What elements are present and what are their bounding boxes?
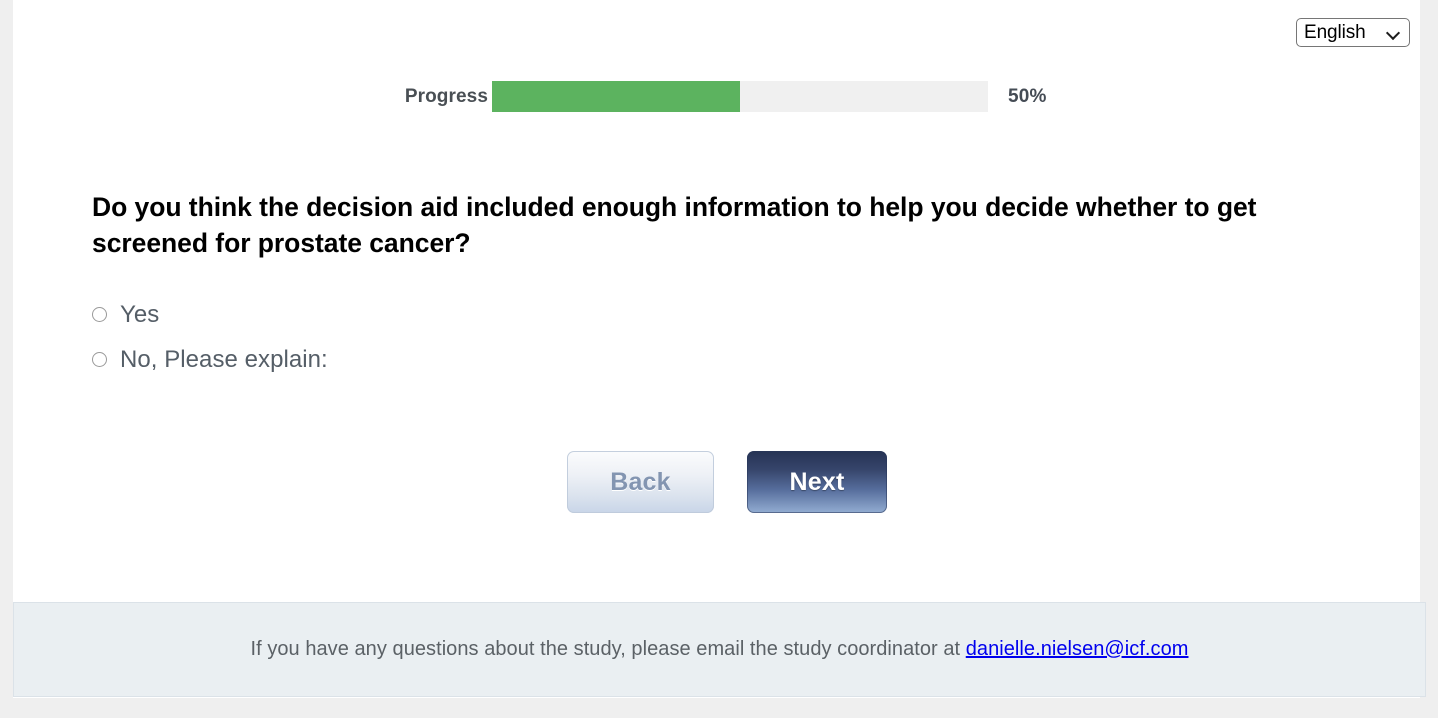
footer-message-text: If you have any questions about the stud… [251,638,966,660]
progress-bar-track [492,81,988,112]
survey-page: English Progress 50% Do you think the de… [13,0,1420,698]
study-coordinator-email-link[interactable]: danielle.nielsen@icf.com [966,638,1189,660]
option-row-yes[interactable]: Yes [92,292,792,337]
option-row-no[interactable]: No, Please explain: [92,337,792,382]
answer-options: Yes No, Please explain: [92,292,792,382]
next-button[interactable]: Next [747,451,887,513]
radio-button-no[interactable] [92,352,107,367]
question-text: Do you think the decision aid included e… [92,189,1367,261]
language-selector[interactable]: English [1296,18,1410,47]
option-label-no: No, Please explain: [120,348,328,372]
radio-button-yes[interactable] [92,307,107,322]
footer-message: If you have any questions about the stud… [251,638,1189,661]
language-selected-value: English [1304,23,1366,42]
progress-percent-text: 50% [1008,80,1047,114]
progress-label: Progress [373,80,488,114]
back-button[interactable]: Back [567,451,714,513]
option-label-yes: Yes [120,303,159,327]
navigation-buttons: Back Next [554,451,954,517]
chevron-down-icon [1387,26,1401,40]
progress-row: Progress 50% [13,80,1420,114]
language-select-box[interactable]: English [1296,18,1410,47]
footer-bar: If you have any questions about the stud… [13,602,1426,697]
progress-bar-fill [492,81,740,112]
